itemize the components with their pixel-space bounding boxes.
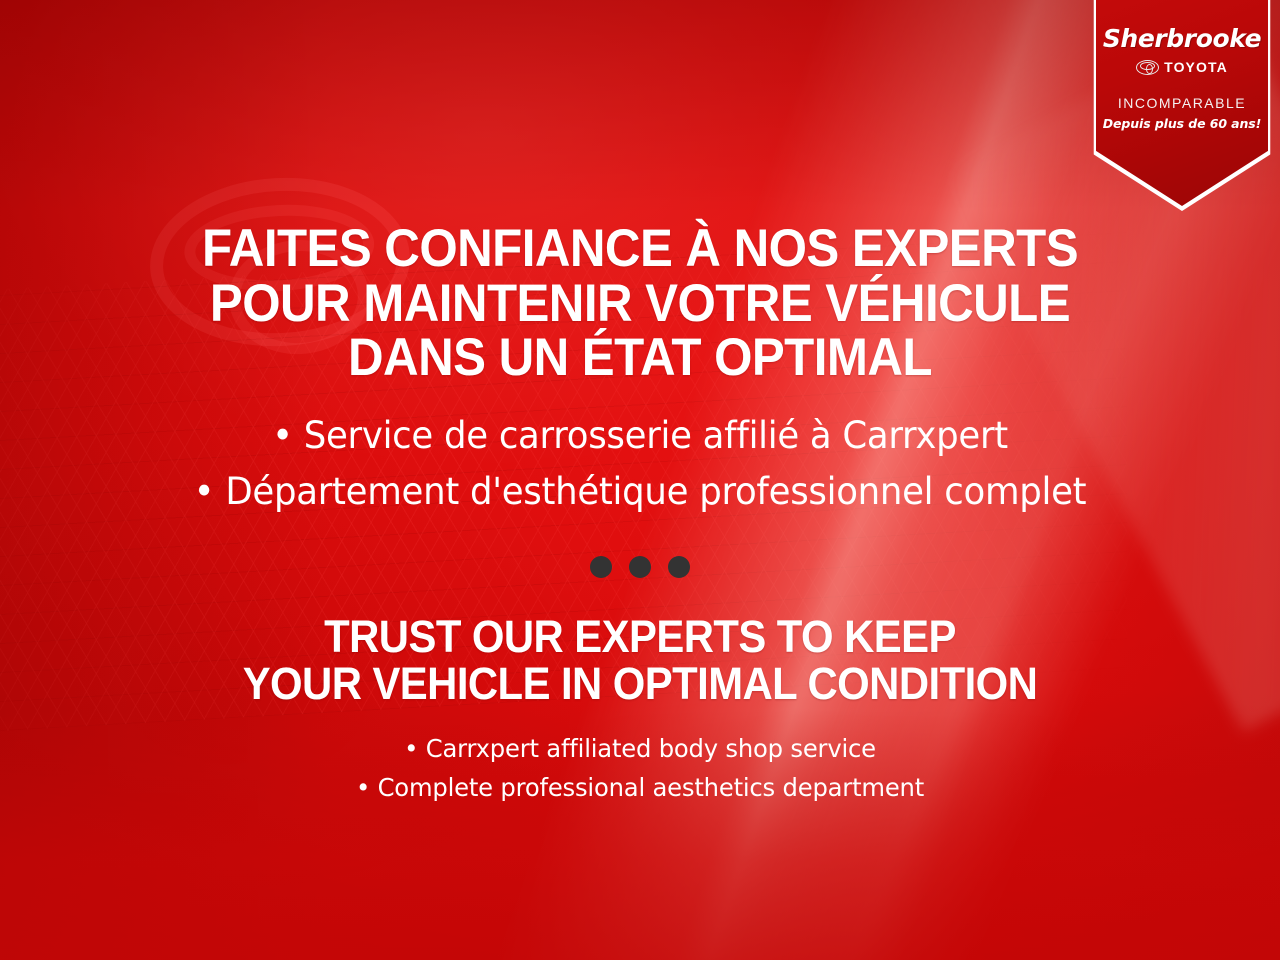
brand-lockup: TOYOTA xyxy=(1136,59,1228,75)
headline-french-line-1: FAITES CONFIANCE À NOS EXPERTS xyxy=(45,222,1235,277)
headline-french: FAITES CONFIANCE À NOS EXPERTS POUR MAIN… xyxy=(45,222,1235,386)
headline-french-line-2: POUR MAINTENIR VOTRE VÉHICULE xyxy=(45,277,1235,332)
bullet-french-1: • Service de carrosserie affilié à Carrx… xyxy=(26,408,1255,464)
banner-content: FAITES CONFIANCE À NOS EXPERTS POUR MAIN… xyxy=(0,0,1280,960)
badge-content: Sherbrooke TOYOTA INCOMPARABLE Depuis pl… xyxy=(1096,0,1268,206)
bullets-english: • Carrxpert affiliated body shop service… xyxy=(19,729,1261,808)
bullet-english-1: • Carrxpert affiliated body shop service xyxy=(19,729,1261,769)
bullet-french-2: • Département d'esthétique professionnel… xyxy=(26,464,1255,520)
brand-name: TOYOTA xyxy=(1164,59,1228,75)
toyota-oval-icon xyxy=(1136,60,1159,75)
headline-french-line-3: DANS UN ÉTAT OPTIMAL xyxy=(45,331,1235,386)
divider-dot-1 xyxy=(590,556,612,578)
headline-english: TRUST OUR EXPERTS TO KEEP YOUR VEHICLE I… xyxy=(45,614,1235,707)
dealer-name: Sherbrooke xyxy=(1103,26,1261,51)
badge-tagline: INCOMPARABLE xyxy=(1118,95,1246,111)
divider-dot-3 xyxy=(668,556,690,578)
promotional-banner: Sherbrooke TOYOTA INCOMPARABLE Depuis pl… xyxy=(0,0,1280,960)
headline-english-line-2: YOUR VEHICLE IN OPTIMAL CONDITION xyxy=(45,661,1235,707)
dealer-badge: Sherbrooke TOYOTA INCOMPARABLE Depuis pl… xyxy=(1096,0,1268,206)
badge-subtagline: Depuis plus de 60 ans! xyxy=(1103,116,1262,131)
headline-english-line-1: TRUST OUR EXPERTS TO KEEP xyxy=(45,614,1235,660)
bullets-french: • Service de carrosserie affilié à Carrx… xyxy=(26,408,1255,520)
bullet-english-2: • Complete professional aesthetics depar… xyxy=(19,768,1261,808)
divider-dots xyxy=(0,556,1280,578)
divider-dot-2 xyxy=(629,556,651,578)
